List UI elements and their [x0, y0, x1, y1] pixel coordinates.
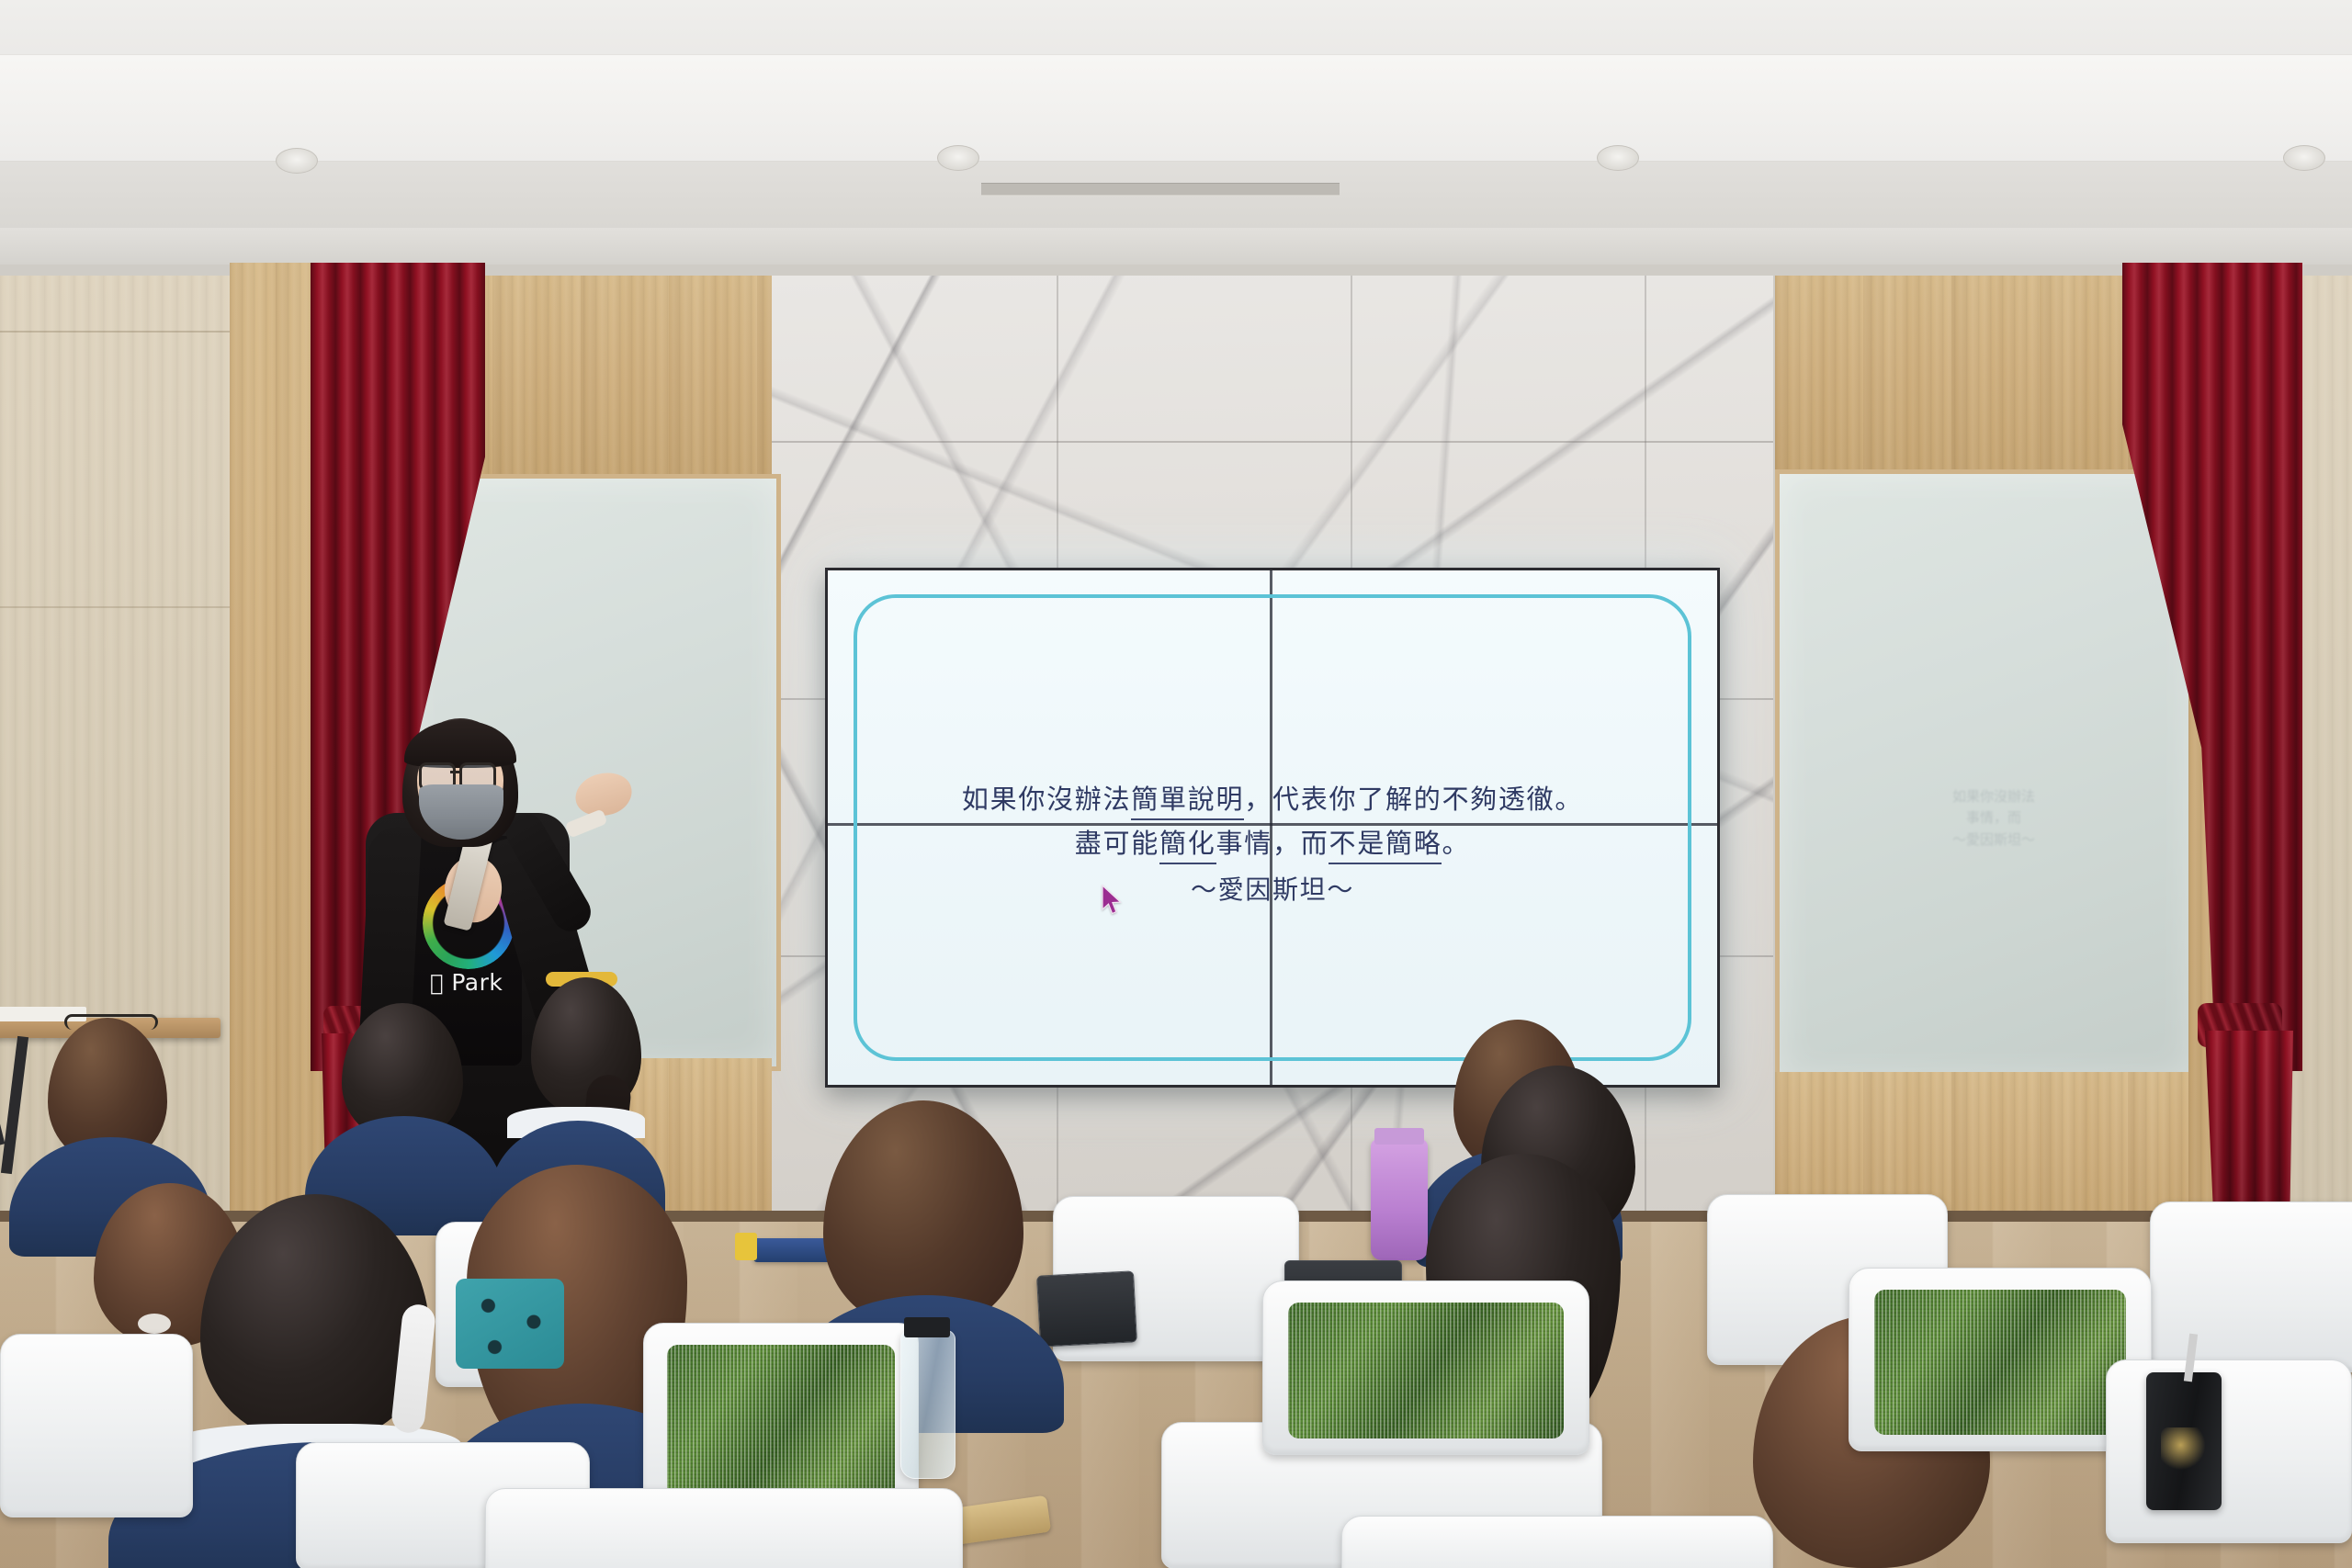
ceiling-downlight — [276, 148, 318, 174]
tablet-device[interactable] — [1036, 1270, 1137, 1347]
apple-logo-icon:  — [430, 970, 444, 996]
slide-line-2-underlined-a: 簡化 — [1159, 828, 1216, 864]
lecture-chair[interactable] — [1262, 1280, 1589, 1455]
slide-line-1-after: ，代表你了解的不夠透徹。 — [1244, 784, 1583, 815]
water-bottle-clear[interactable] — [900, 1330, 955, 1479]
slide-reflection-ghost: 如果你沒辦法 事情，而 ～愛因斯坦～ — [1865, 786, 2122, 851]
tumbler-graphic — [2161, 1427, 2211, 1472]
lecture-chair[interactable] — [0, 1334, 193, 1517]
shirt-park-text: Park — [451, 969, 503, 996]
slide-line-1: 如果你沒辦法簡單說明，代表你了解的不夠透徹。 — [828, 778, 1717, 817]
audience-hair-tie — [138, 1314, 171, 1334]
slide-attribution: ～愛因斯坦～ — [828, 870, 1717, 907]
wood-panel-seam — [0, 606, 230, 608]
chair-mesh-back — [20, 1354, 173, 1501]
chair-mesh-back — [1874, 1290, 2126, 1435]
lecture-hall-photo: 如果你沒辦法 事情，而 ～愛因斯坦～ 如果你沒辦法簡單說明，代表你了解的不夠透徹… — [0, 0, 2352, 1568]
slide-attribution-text: ～愛因斯坦～ — [1191, 874, 1354, 905]
slide-line-1-underlined: 簡單說明 — [1131, 784, 1244, 820]
slide-line-2-mid: 事情，而 — [1216, 828, 1329, 859]
reflection-line-3: ～愛因斯坦～ — [1865, 829, 2122, 851]
glass-panel-right — [1775, 469, 2198, 1085]
curtain-right-lower — [2205, 1031, 2293, 1224]
ceiling-air-diffuser — [981, 183, 1340, 196]
slide-line-2: 盡可能簡化事情，而不是簡略。 — [828, 822, 1717, 861]
ceiling-downlight — [2283, 145, 2325, 171]
lecture-chair[interactable] — [2106, 1359, 2352, 1543]
wood-panel-seam — [0, 331, 230, 333]
reflection-line-2: 事情，而 — [1865, 807, 2122, 829]
ceiling-downlight — [937, 145, 979, 171]
bottle-cap — [904, 1317, 950, 1337]
chair-mesh-back — [1369, 1538, 1746, 1568]
presenter-glasses-bridge — [450, 771, 461, 773]
slide-line-1-before: 如果你沒辦法 — [962, 784, 1131, 815]
ceiling-downlight — [1597, 145, 1639, 171]
shirt-park-wordmark:  Park — [430, 969, 503, 996]
audience-glasses-on-head-icon — [64, 1014, 158, 1030]
wood-column-left — [230, 263, 276, 1222]
marble-seam — [763, 441, 1773, 443]
lecture-chair[interactable] — [2150, 1201, 2352, 1372]
chair-mesh-back — [513, 1512, 935, 1568]
slide-line-2-end: 。 — [1442, 828, 1470, 859]
bottle-cap — [1374, 1128, 1424, 1145]
slide-line-2-underlined-b: 不是簡略 — [1329, 828, 1442, 864]
notebook-tab-yellow — [735, 1233, 757, 1260]
water-bottle-purple[interactable] — [1371, 1139, 1428, 1260]
ceiling-band — [0, 55, 2352, 161]
lecture-chair[interactable] — [485, 1488, 963, 1568]
reflection-line-1: 如果你沒辦法 — [1865, 786, 2122, 807]
presentation-video-wall[interactable]: 如果你沒辦法簡單說明，代表你了解的不夠透徹。 盡可能簡化事情，而不是簡略。 ～愛… — [825, 568, 1720, 1088]
lecture-chair[interactable] — [1341, 1516, 1773, 1568]
chair-mesh-back — [2172, 1222, 2352, 1356]
chair-tablet-arm[interactable] — [1672, 1257, 1738, 1293]
chair-mesh-back — [1288, 1303, 1564, 1438]
pencil-pouch-teal[interactable] — [456, 1279, 564, 1369]
slide-line-2-before: 盡可能 — [1075, 828, 1159, 859]
presenter-fringe — [404, 720, 516, 768]
notebook-stack[interactable] — [753, 1238, 832, 1262]
